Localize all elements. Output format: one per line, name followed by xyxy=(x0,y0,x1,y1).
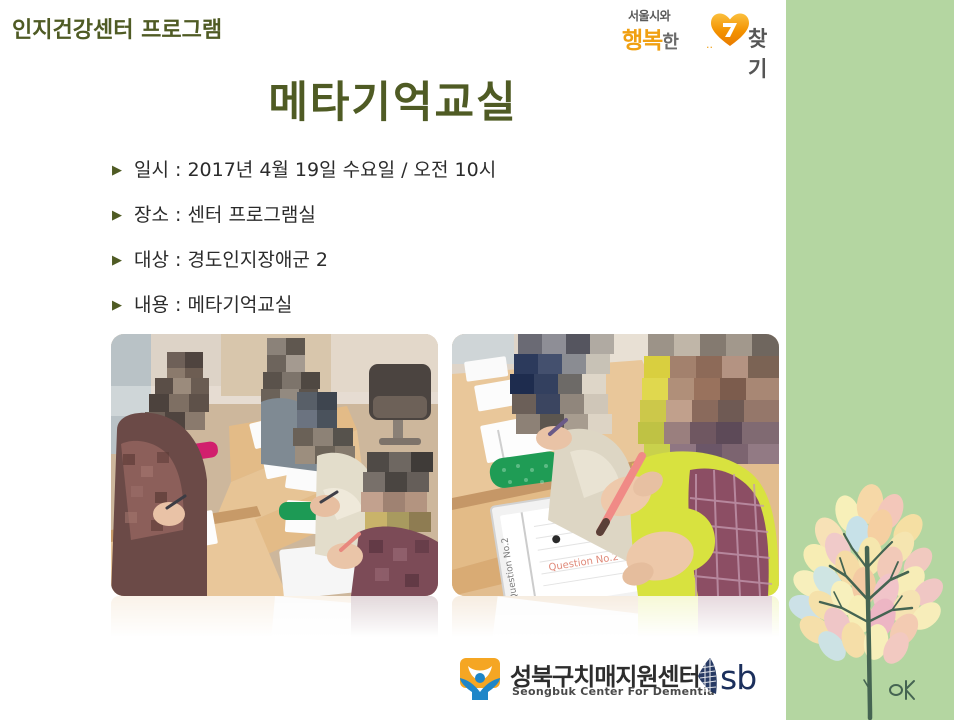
slide-right-margin xyxy=(954,0,960,720)
seoul-logo-han: 한 xyxy=(662,32,678,53)
tree-illustration xyxy=(786,450,954,720)
list-item: ▶ 장소 : 센터 프로그램실 xyxy=(112,200,732,245)
reflection-fade xyxy=(111,596,438,642)
triangle-bullet-icon: ▶ xyxy=(112,164,134,177)
reflection-fade xyxy=(452,596,779,642)
slide-canvas: 인지건강센터 프로그램 서울시와 행복한 .. 찾기 메타기억교실 xyxy=(0,0,960,720)
decorative-side-panel xyxy=(786,0,954,720)
photo-content xyxy=(111,334,438,596)
footer-organisation-logo: 성북구치매지원센터 Seongbuk Center For Dementia s… xyxy=(458,656,768,704)
list-item: ▶ 대상 : 경도인지장애군 2 xyxy=(112,245,732,290)
sb-mark-icon: sb xyxy=(694,656,768,702)
photo-content: Question No.2 Question No.2 xyxy=(452,334,779,596)
page-header-title: 인지건강센터 프로그램 xyxy=(12,12,222,44)
list-item-text: 내용 : 메타기억교실 xyxy=(134,290,292,317)
triangle-bullet-icon: ▶ xyxy=(112,299,134,312)
list-item: ▶ 내용 : 메타기억교실 xyxy=(112,290,732,335)
footer-logo-english: Seongbuk Center For Dementia xyxy=(512,685,715,698)
seoul-logo-happy: 행복 xyxy=(622,28,662,54)
list-item: ▶ 일시 : 2017년 4월 19일 수요일 / 오전 10시 xyxy=(112,155,732,200)
triangle-bullet-icon: ▶ xyxy=(112,254,134,267)
list-item-text: 일시 : 2017년 4월 19일 수요일 / 오전 10시 xyxy=(134,155,496,182)
photo-reflection-right xyxy=(452,596,779,642)
page-title: 메타기억교실 xyxy=(0,68,786,130)
list-item-text: 장소 : 센터 프로그램실 xyxy=(134,200,316,227)
seoul-happy-logo: 서울시와 행복한 .. 찾기 xyxy=(622,6,782,54)
dementia-center-icon xyxy=(458,658,502,700)
list-item-text: 대상 : 경도인지장애군 2 xyxy=(134,245,328,272)
triangle-bullet-icon: ▶ xyxy=(112,209,134,222)
seoul-logo-maintext: 행복한 xyxy=(622,21,678,55)
heart-icon xyxy=(710,12,750,48)
photo-participant-writing: Question No.2 Question No.2 xyxy=(452,334,779,596)
photo-group-around-table xyxy=(111,334,438,596)
sb-mark-text: sb xyxy=(720,658,756,697)
photo-reflection-left xyxy=(111,596,438,642)
info-list: ▶ 일시 : 2017년 4월 19일 수요일 / 오전 10시 ▶ 장소 : … xyxy=(112,155,732,335)
